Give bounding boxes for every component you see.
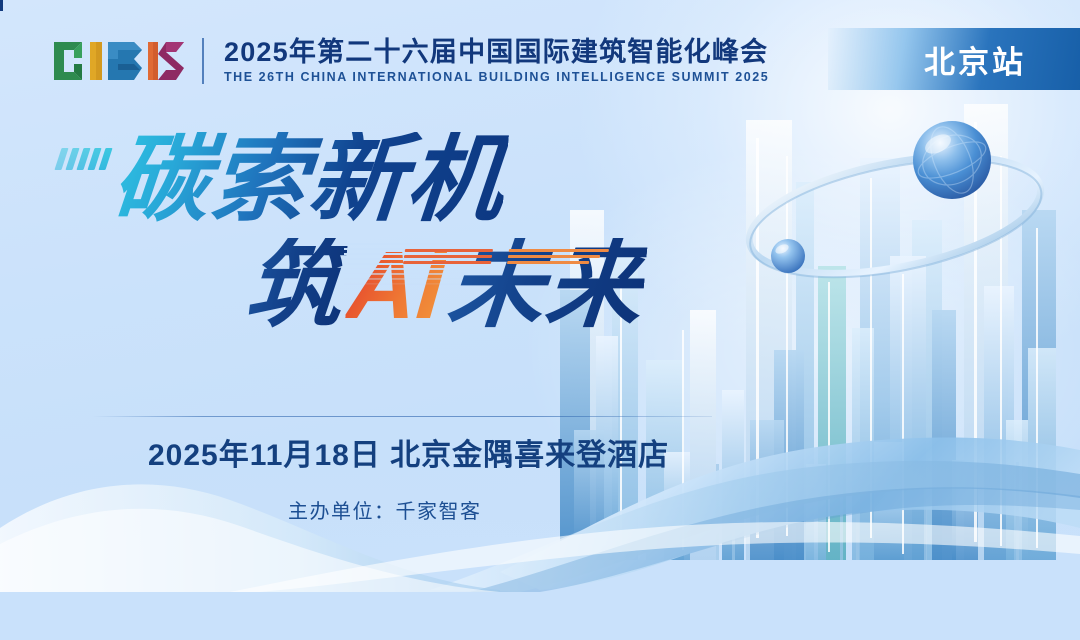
summit-title-en: THE 26TH CHINA INTERNATIONAL BUILDING IN… xyxy=(224,71,769,84)
header-title-block: 2025年第二十六届中国国际建筑智能化峰会 THE 26TH CHINA INT… xyxy=(224,39,769,84)
cibis-logo xyxy=(52,38,184,84)
headline-block: 碳索新机 筑 AI 未来 xyxy=(0,132,720,334)
speed-lines-icon xyxy=(54,148,112,170)
poster-root: 2025年第二十六届中国国际建筑智能化峰会 THE 26TH CHINA INT… xyxy=(0,0,1080,640)
summit-title-cn: 2025年第二十六届中国国际建筑智能化峰会 xyxy=(224,39,769,66)
orange-accent-bars xyxy=(404,249,608,264)
header-divider xyxy=(202,38,204,84)
orbit-ring-graphic xyxy=(730,110,1060,330)
station-badge-label: 北京站 xyxy=(882,37,1026,82)
header: 2025年第二十六届中国国际建筑智能化峰会 THE 26TH CHINA INT… xyxy=(52,38,769,84)
corner-marker xyxy=(0,0,3,11)
cibis-logo-mark xyxy=(52,38,184,84)
organizer-text: 主办单位：千家智客 xyxy=(288,495,482,524)
headline-line-1: 碳索新机 xyxy=(58,132,720,228)
footer-divider xyxy=(92,416,712,417)
station-badge: 北京站 xyxy=(828,28,1080,90)
headline-line-2-prefix: 筑 xyxy=(242,238,348,334)
date-venue-text: 2025年11月18日 北京金隅喜来登酒店 xyxy=(148,430,669,474)
headline-line-1-text: 碳索新机 xyxy=(109,132,509,228)
